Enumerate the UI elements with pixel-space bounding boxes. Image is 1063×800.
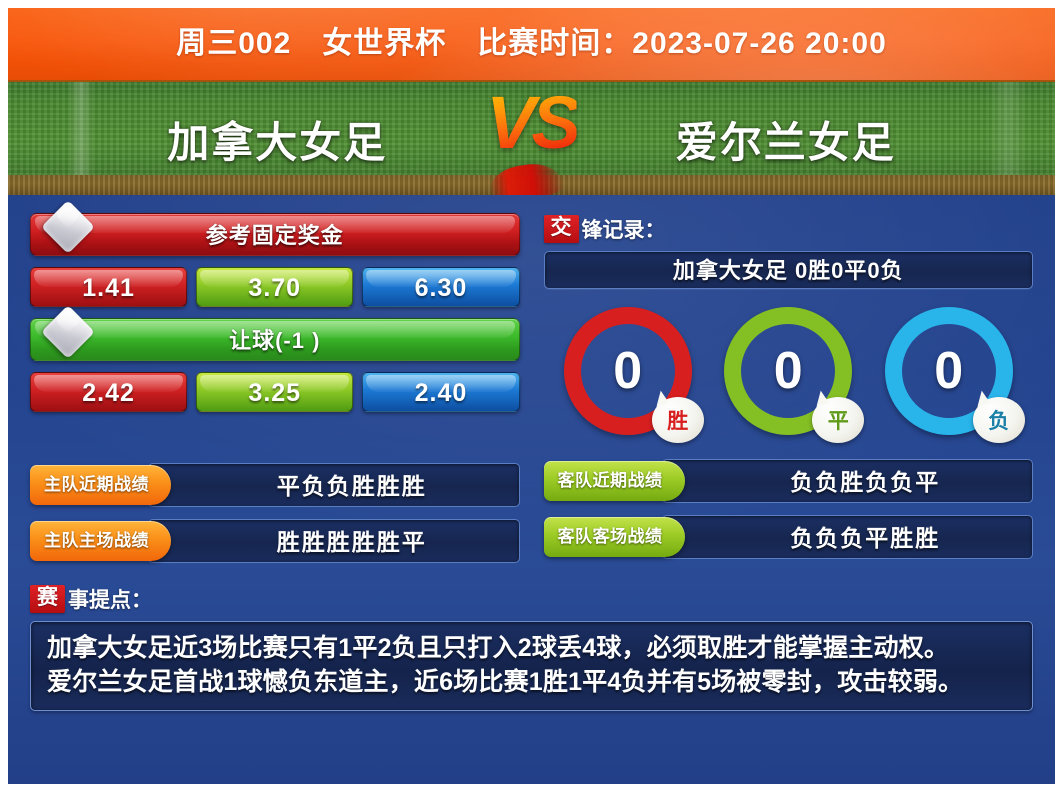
header-title: 周三002 女世界杯 比赛时间：2023-07-26 20:00 xyxy=(8,8,1055,80)
h2h-summary: 加拿大女足 0胜0平0负 xyxy=(544,251,1034,289)
odds-value: 3.70 xyxy=(248,274,301,302)
fixed-odds-title: 参考固定奖金 xyxy=(31,214,519,257)
odds-value: 3.25 xyxy=(248,379,301,407)
h2h-win-circle: 0 胜 xyxy=(564,307,692,435)
odds-value: 1.41 xyxy=(82,274,135,302)
tips-line-2: 爱尔兰女足首战1球憾负东道主，近6场比赛1胜1平4负并有5场被零封，攻击较弱。 xyxy=(47,665,1016,699)
h2h-header-text: 锋记录： xyxy=(582,214,666,244)
away-recent-form-value: 负负胜负负平 xyxy=(662,459,1034,503)
away-recent-form-label: 客队近期战绩 xyxy=(544,461,685,501)
teams-row: 加拿大女足 VS 爱尔兰女足 xyxy=(8,82,1055,195)
handicap-header: 让球(-1 ) xyxy=(30,318,520,361)
handicap-odds-draw[interactable]: 3.25 xyxy=(196,372,353,412)
handicap-odds-row: 2.42 3.25 2.40 xyxy=(30,372,520,412)
two-column-layout: 参考固定奖金 1.41 3.70 6.30 xyxy=(30,213,1033,563)
away-recent-form-row: 客队近期战绩 负负胜负负平 xyxy=(544,459,1034,503)
vs-flame-icon xyxy=(487,160,565,195)
header-banner: 周三002 女世界杯 比赛时间：2023-07-26 20:00 xyxy=(8,8,1055,80)
fixed-odds-win[interactable]: 1.41 xyxy=(30,267,187,307)
home-recent-form-label: 主队近期战绩 xyxy=(30,465,171,505)
h2h-draw-circle: 0 平 xyxy=(724,307,852,435)
home-home-form-value: 胜胜胜胜胜平 xyxy=(148,519,520,563)
odds-column: 参考固定奖金 1.41 3.70 6.30 xyxy=(30,213,520,563)
away-away-form-row: 客队客场战绩 负负负平胜胜 xyxy=(544,515,1034,559)
pitch-background: 加拿大女足 VS 爱尔兰女足 xyxy=(8,80,1055,195)
tips-header: 赛 事提点： xyxy=(30,583,1033,615)
h2h-win-badge: 胜 xyxy=(652,397,704,443)
head-to-head-column: 交 锋记录： 加拿大女足 0胜0平0负 0 胜 0 平 xyxy=(544,213,1034,563)
handicap-odds-win[interactable]: 2.42 xyxy=(30,372,187,412)
fixed-odds-draw[interactable]: 3.70 xyxy=(196,267,353,307)
fixed-odds-header: 参考固定奖金 xyxy=(30,213,520,256)
tips-section: 赛 事提点： 加拿大女足近3场比赛只有1平2负且只打入2球丢4球，必须取胜才能掌… xyxy=(30,583,1033,711)
tips-header-text: 事提点： xyxy=(68,584,152,614)
home-team-name: 加拿大女足 xyxy=(78,109,477,170)
away-team-name: 爱尔兰女足 xyxy=(587,109,986,170)
head-to-head-header: 交 锋记录： xyxy=(544,213,1034,245)
fixed-odds-lose[interactable]: 6.30 xyxy=(362,267,519,307)
h2h-lose-circle: 0 负 xyxy=(885,307,1013,435)
tips-chip: 赛 xyxy=(30,585,65,613)
handicap-odds-lose[interactable]: 2.40 xyxy=(362,372,519,412)
match-preview-card: 周三002 女世界杯 比赛时间：2023-07-26 20:00 加拿大女足 V… xyxy=(0,0,1063,800)
odds-value: 2.40 xyxy=(415,379,468,407)
tips-line-1: 加拿大女足近3场比赛只有1平2负且只打入2球丢4球，必须取胜才能掌握主动权。 xyxy=(47,631,1016,665)
handicap-title: 让球(-1 ) xyxy=(31,319,519,362)
fixed-odds-row: 1.41 3.70 6.30 xyxy=(30,267,520,307)
away-away-form-label: 客队客场战绩 xyxy=(544,517,685,557)
away-away-form-value: 负负负平胜胜 xyxy=(662,515,1034,559)
home-recent-form-value: 平负负胜胜胜 xyxy=(148,463,520,507)
h2h-lose-badge: 负 xyxy=(973,397,1025,443)
home-recent-form-row: 主队近期战绩 平负负胜胜胜 xyxy=(30,463,520,507)
main-panel: 参考固定奖金 1.41 3.70 6.30 xyxy=(8,195,1055,784)
odds-value: 6.30 xyxy=(415,274,468,302)
h2h-circles: 0 胜 0 平 0 负 xyxy=(544,307,1034,435)
tips-box: 加拿大女足近3场比赛只有1平2负且只打入2球丢4球，必须取胜才能掌握主动权。 爱… xyxy=(30,621,1033,711)
home-home-form-label: 主队主场战绩 xyxy=(30,521,171,561)
vs-text: VS xyxy=(486,86,577,160)
h2h-chip: 交 xyxy=(544,215,579,243)
home-home-form-row: 主队主场战绩 胜胜胜胜胜平 xyxy=(30,519,520,563)
h2h-draw-badge: 平 xyxy=(812,397,864,443)
vs-logo: VS xyxy=(477,82,587,195)
odds-value: 2.42 xyxy=(82,379,135,407)
